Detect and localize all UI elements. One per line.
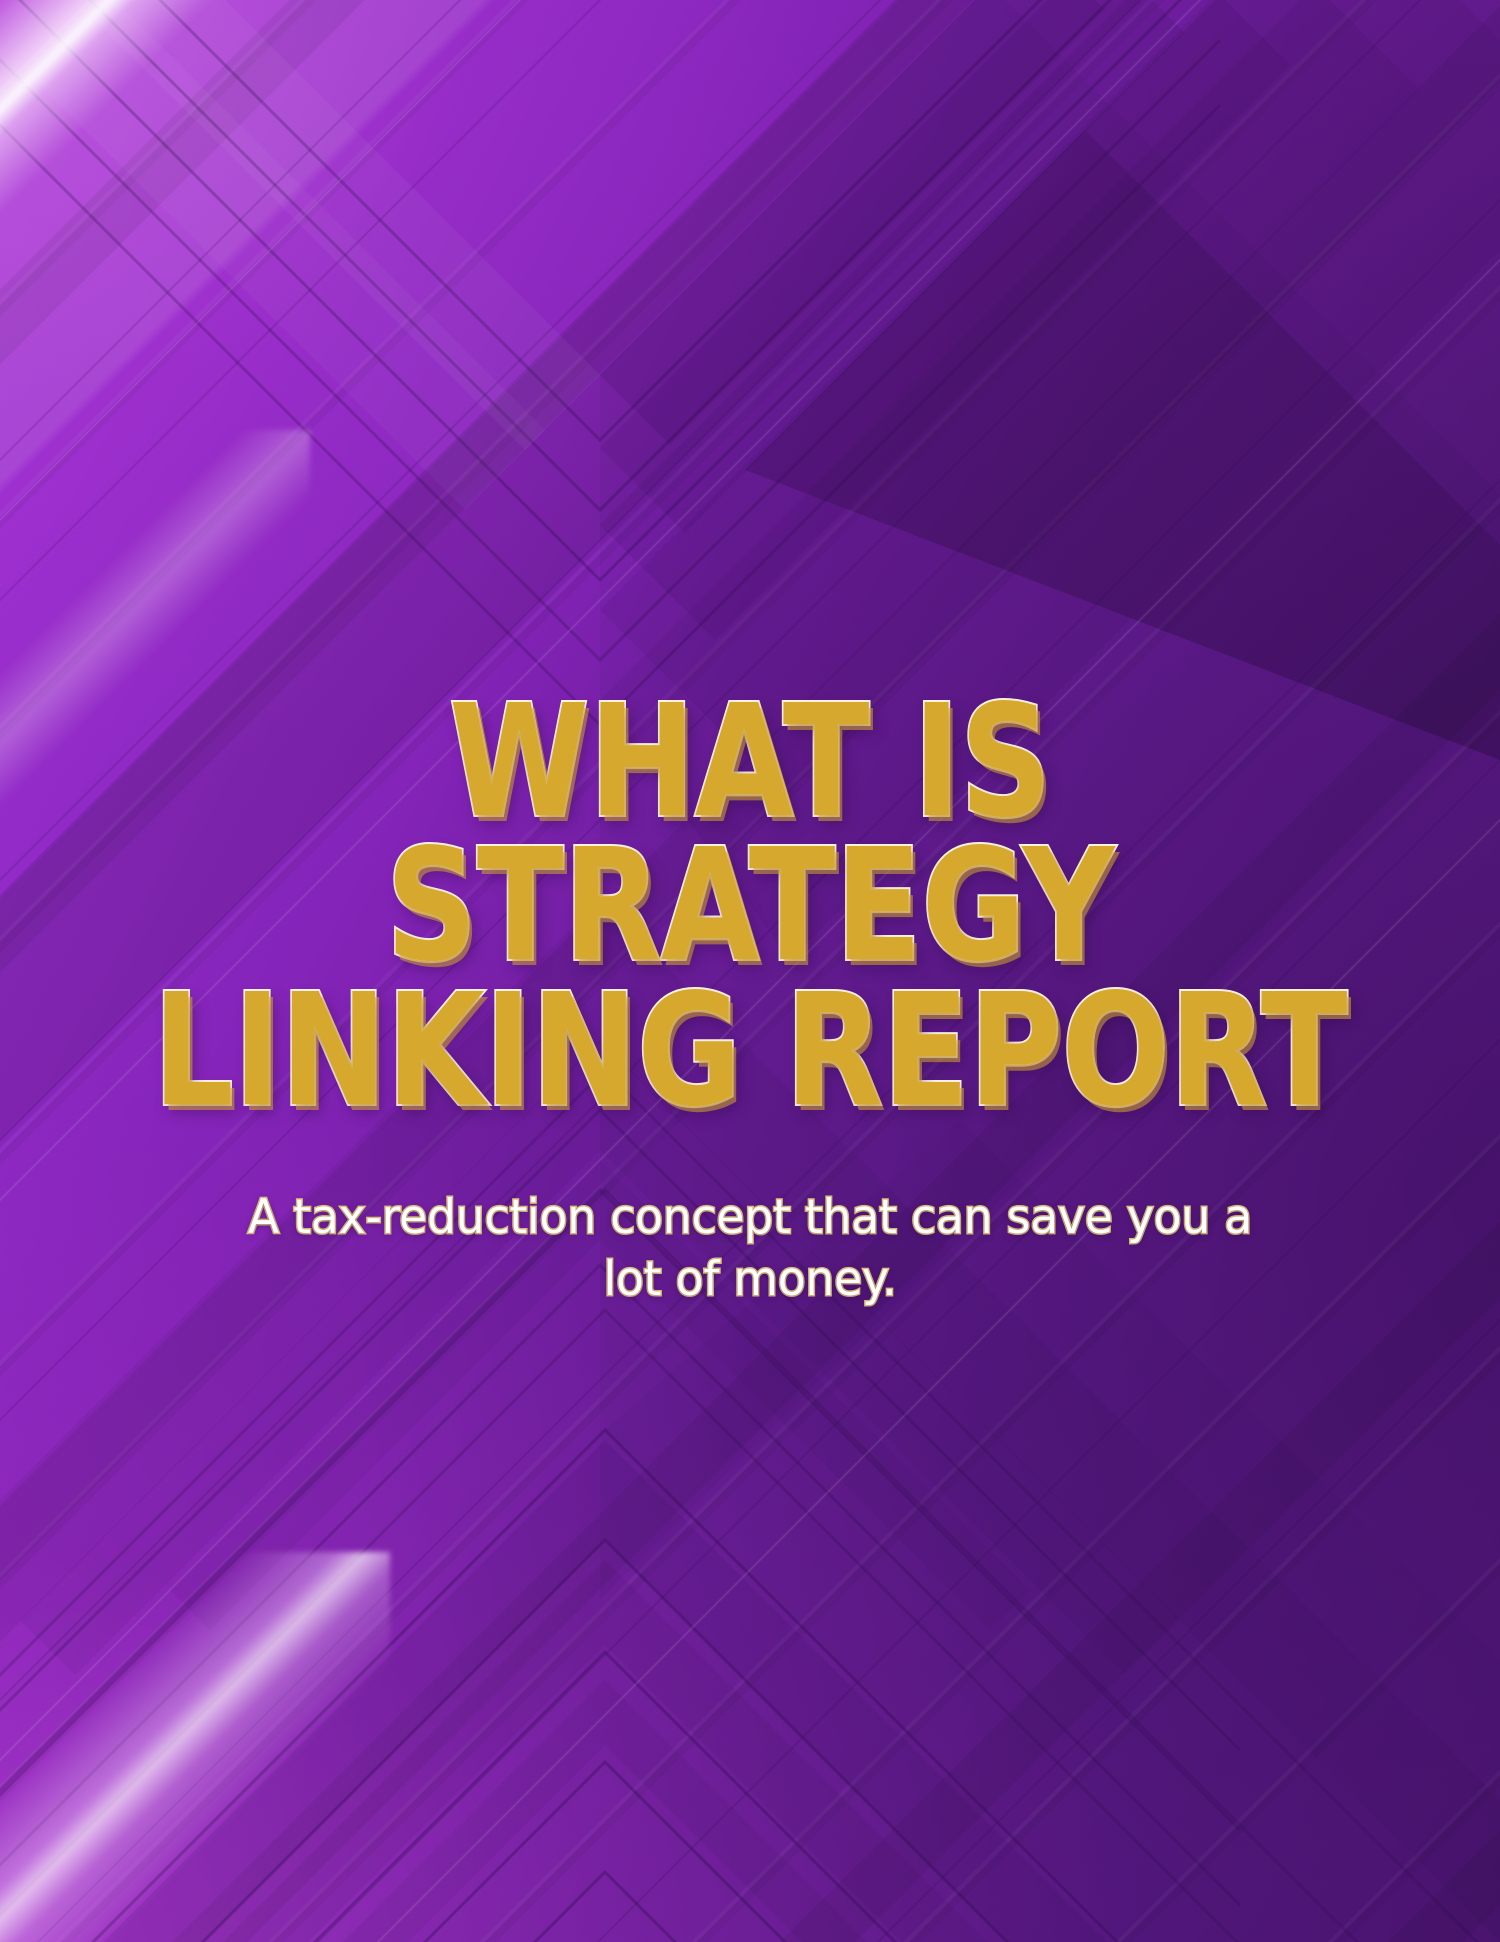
cover-title: WHAT IS STRATEGY LINKING REPORT [0,690,1500,1122]
cover-subtitle-text: A tax-reduction concept that can save yo… [241,1187,1260,1312]
title-line-3: LINKING REPORT [135,979,1365,1123]
cover-content: WHAT IS STRATEGY LINKING REPORT A tax-re… [0,0,1500,1942]
title-line-2: STRATEGY [135,834,1365,978]
cover-subtitle: A tax-reduction concept that can save yo… [225,1187,1275,1312]
cover-page: WHAT IS STRATEGY LINKING REPORT A tax-re… [0,0,1500,1942]
title-line-1: WHAT IS [135,690,1365,834]
